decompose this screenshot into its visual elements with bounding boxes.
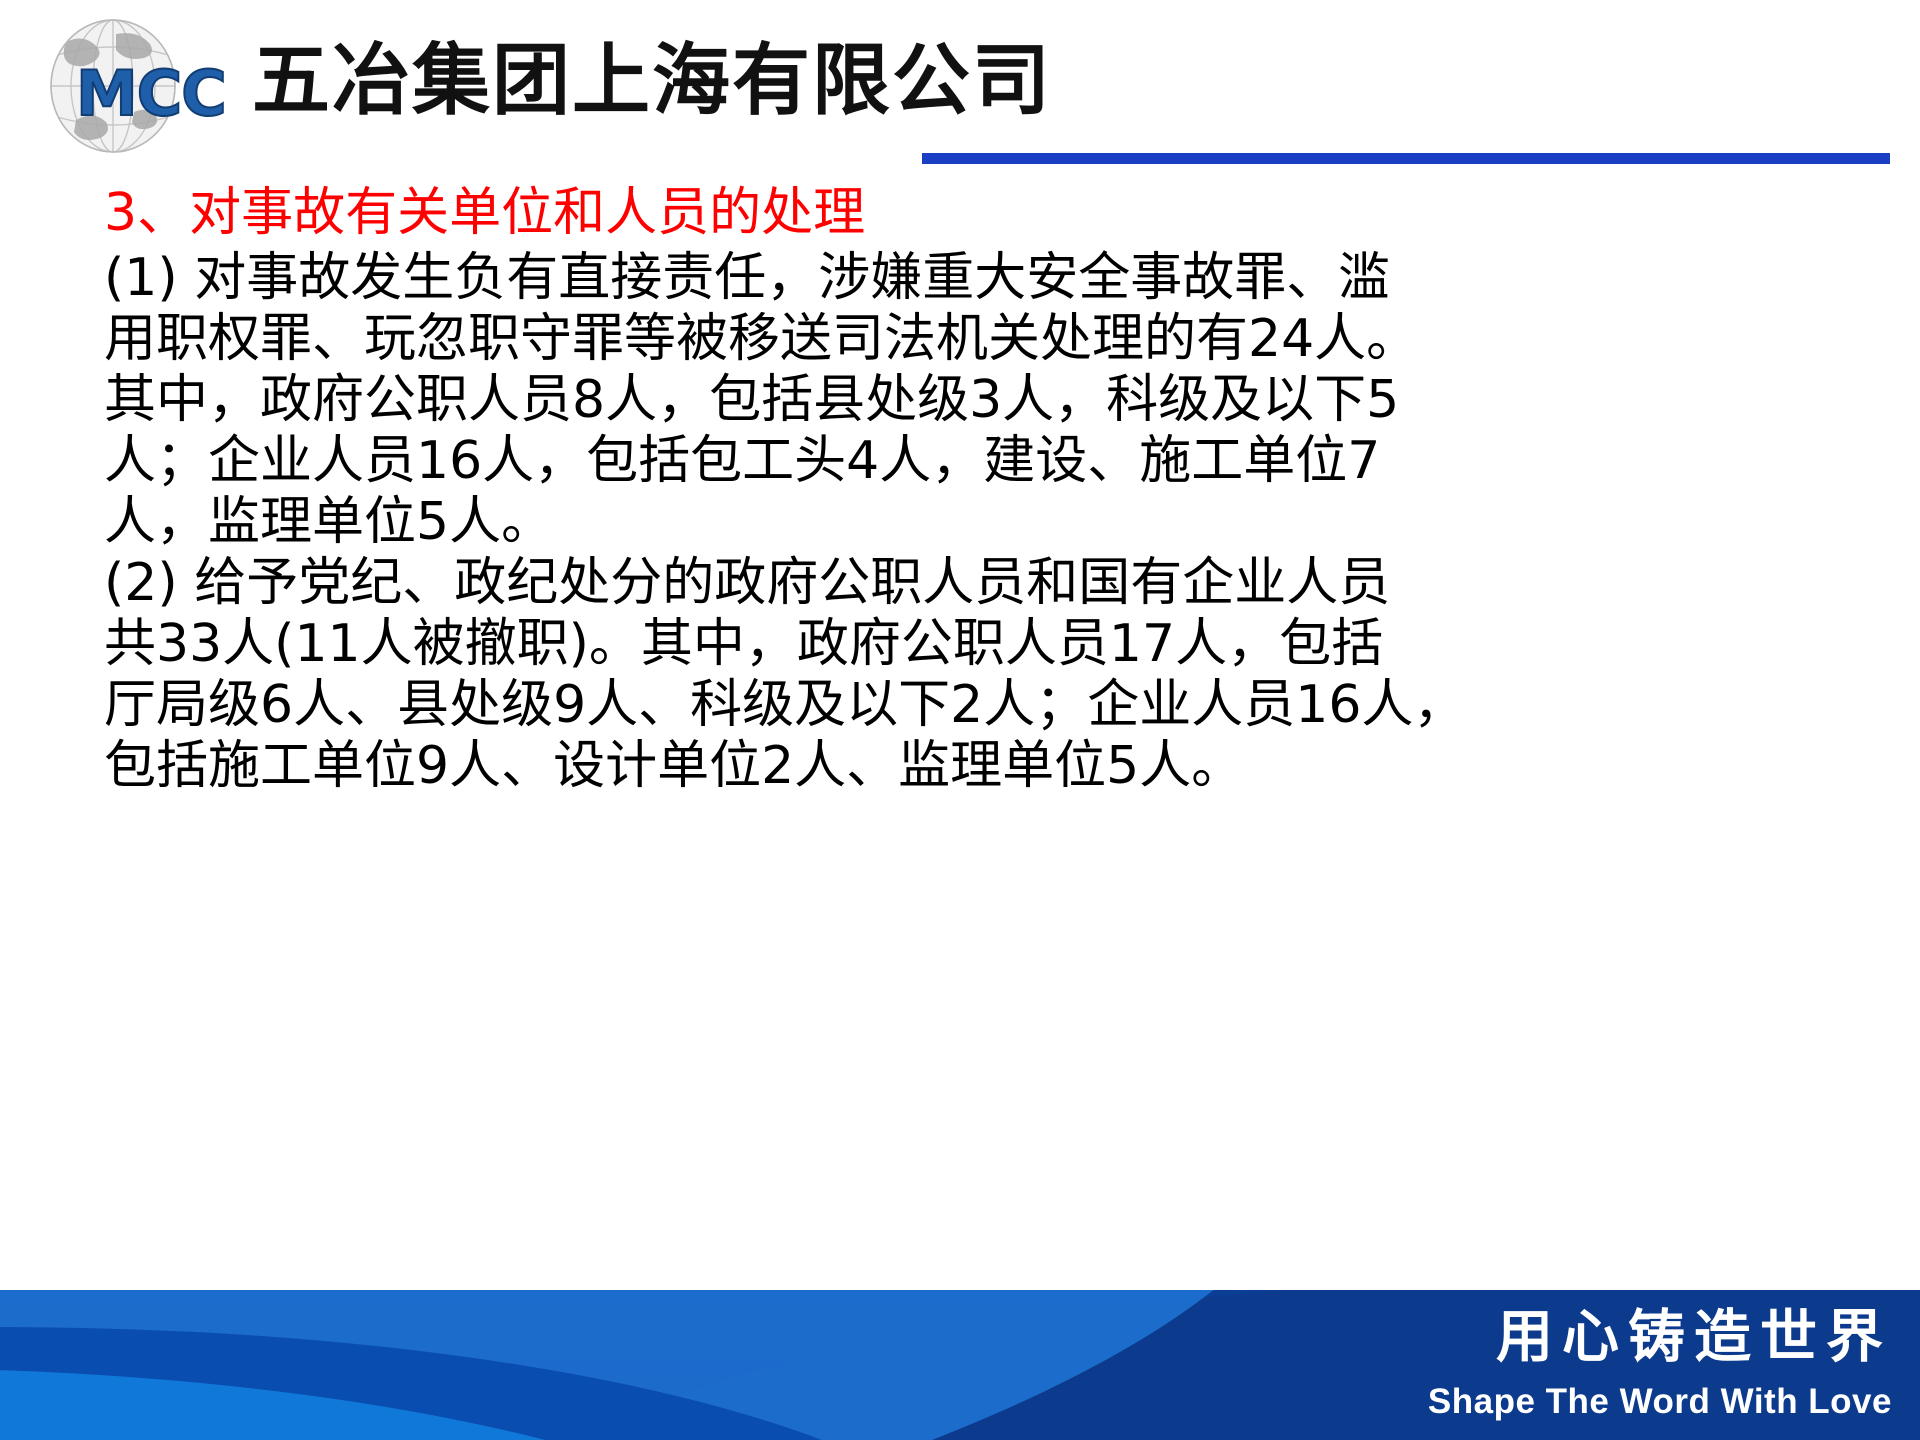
footer-slogan-cn: 用心铸造世界 — [1496, 1306, 1892, 1368]
slide-footer: 用心铸造世界 Shape The Word With Love — [0, 1290, 1920, 1440]
body-line: (1) 对事故发生负有直接责任，涉嫌重大安全事故罪、滥 — [104, 248, 1864, 309]
body-line: 包括施工单位9人、设计单位2人、监理单位5人。 — [104, 736, 1864, 797]
slide-header: MCC 五冶集团上海有限公司 — [0, 0, 1920, 172]
header-divider — [922, 153, 1890, 164]
slide-canvas: MCC 五冶集团上海有限公司 3、对事故有关单位和人员的处理 (1) 对事故发生… — [0, 0, 1920, 1440]
body-line: 共33人(11人被撤职)。其中，政府公职人员17人，包括 — [104, 614, 1864, 675]
body-line: 厅局级6人、县处级9人、科级及以下2人；企业人员16人， — [104, 675, 1864, 736]
body-line: 其中，政府公职人员8人，包括县处级3人，科级及以下5 — [104, 370, 1864, 431]
body-line: 人，监理单位5人。 — [104, 492, 1864, 553]
company-name: 五冶集团上海有限公司 — [252, 38, 1052, 124]
company-logo: MCC — [30, 16, 255, 156]
section-heading: 3、对事故有关单位和人员的处理 — [104, 180, 1864, 246]
body-line: 用职权罪、玩忽职守罪等被移送司法机关处理的有24人。 — [104, 309, 1864, 370]
footer-slogan-en: Shape The Word With Love — [1428, 1382, 1892, 1422]
body-line: (2) 给予党纪、政纪处分的政府公职人员和国有企业人员 — [104, 553, 1864, 614]
logo-wordmark: MCC — [76, 63, 226, 125]
body-line: 人；企业人员16人，包括包工头4人，建设、施工单位7 — [104, 431, 1864, 492]
slide-body: 3、对事故有关单位和人员的处理 (1) 对事故发生负有直接责任，涉嫌重大安全事故… — [104, 180, 1864, 797]
